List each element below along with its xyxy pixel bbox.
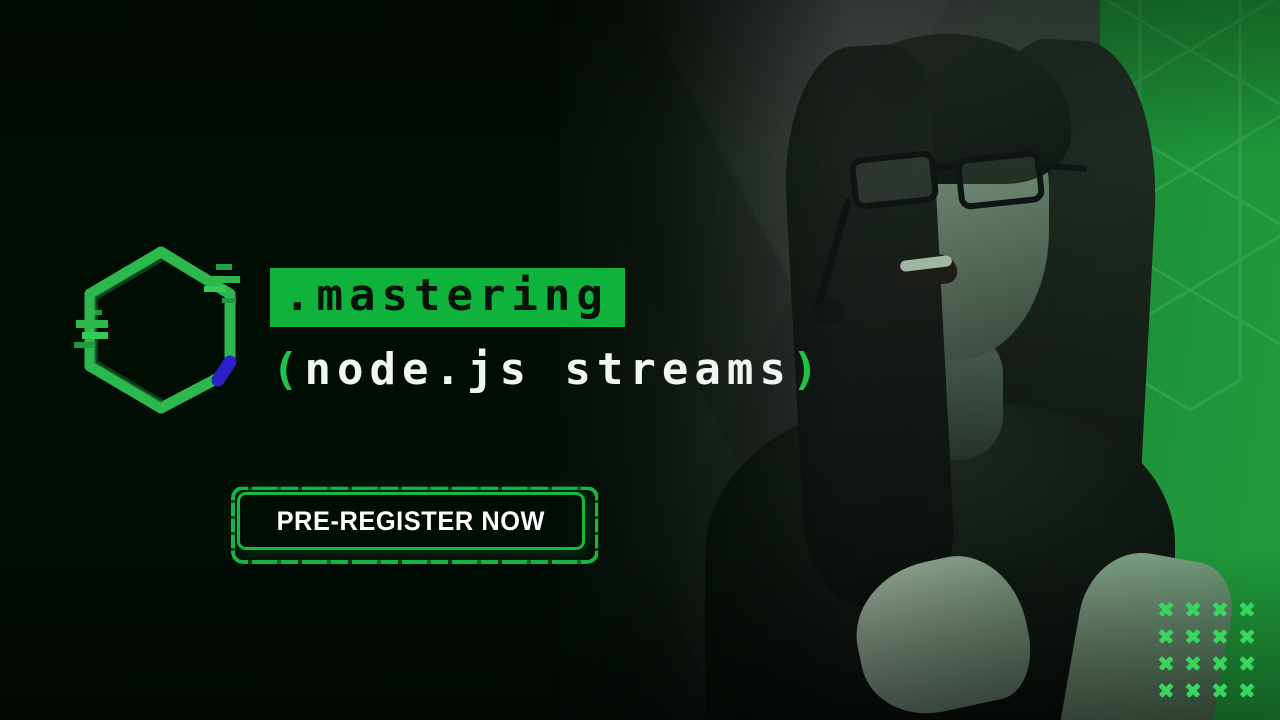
x-icon: [1154, 596, 1181, 623]
hexagon-outline-icon: [78, 238, 248, 416]
subline-text: node.js streams: [305, 344, 792, 395]
x-icon: [1208, 677, 1235, 704]
x-icon: [1208, 623, 1235, 650]
pre-register-button-label: PRE-REGISTER NOW: [277, 506, 545, 537]
x-icon: [1208, 650, 1235, 677]
x-icon: [1154, 650, 1181, 677]
headline-highlight: .mastering: [270, 268, 625, 327]
subline-open-paren: (: [272, 344, 305, 395]
hero-banner: .mastering (node.js streams) PRE-REGISTE…: [0, 0, 1280, 720]
x-icon: [1235, 650, 1262, 677]
pre-register-button[interactable]: PRE-REGISTER NOW: [237, 492, 585, 550]
x-icon: [1235, 623, 1262, 650]
x-icon: [1235, 677, 1262, 704]
x-icon: [1235, 596, 1262, 623]
x-mark-grid: [1154, 596, 1262, 704]
x-icon: [1208, 596, 1235, 623]
node-hexagon-logo: [78, 238, 248, 416]
headline-text: .mastering: [284, 270, 609, 321]
x-icon: [1181, 677, 1208, 704]
x-icon: [1181, 623, 1208, 650]
x-icon: [1154, 677, 1181, 704]
subline-close-paren: ): [792, 344, 825, 395]
x-icon: [1154, 623, 1181, 650]
blue-corner-segment: [218, 362, 230, 380]
subline: (node.js streams): [272, 348, 824, 392]
x-icon: [1181, 650, 1208, 677]
x-icon: [1181, 596, 1208, 623]
